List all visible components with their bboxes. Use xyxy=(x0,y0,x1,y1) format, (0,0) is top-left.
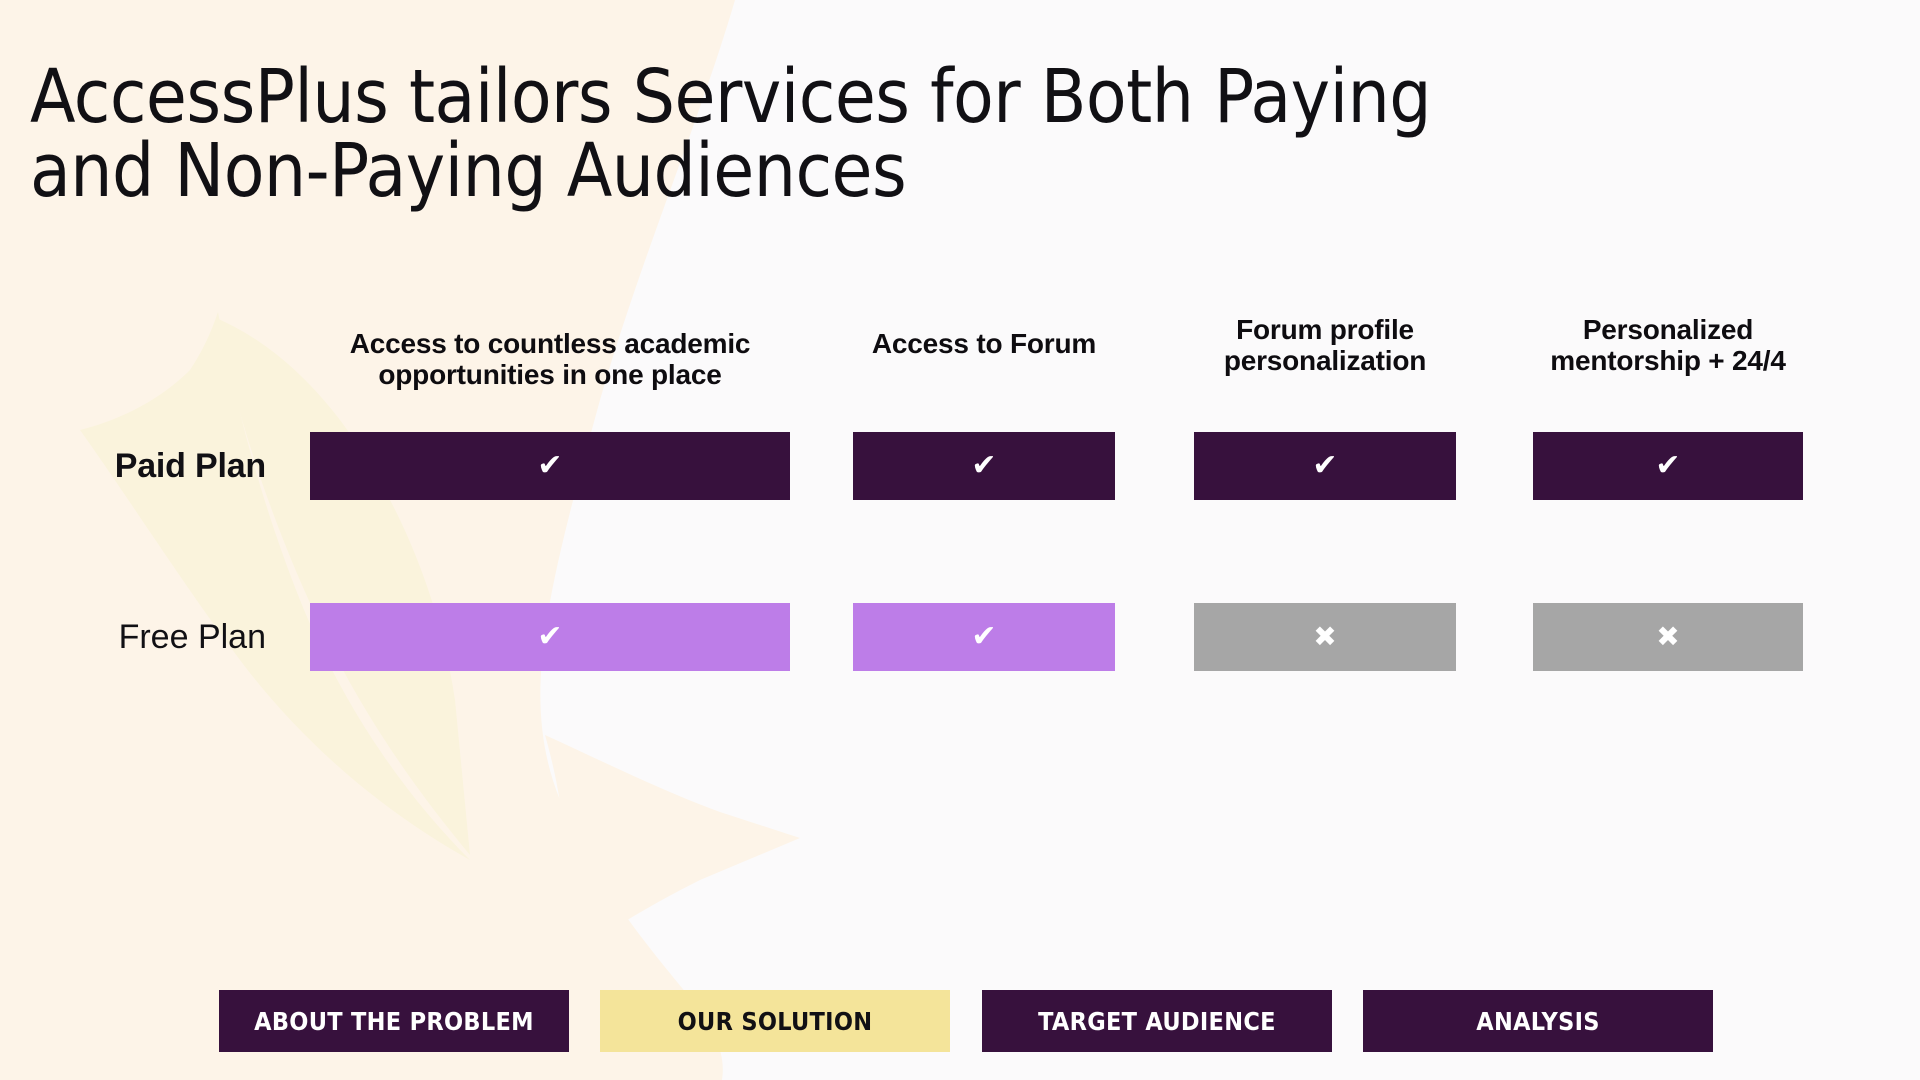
slide-root: AccessPlus tailors Services for Both Pay… xyxy=(0,0,1920,1080)
nav-button-our-solution[interactable]: OUR SOLUTION xyxy=(600,990,950,1052)
nav-button-label: ANALYSIS xyxy=(1476,1007,1600,1036)
bottom-navigation: ABOUT THE PROBLEM OUR SOLUTION TARGET AU… xyxy=(0,990,1920,1052)
nav-button-label: ABOUT THE PROBLEM xyxy=(254,1007,534,1036)
cell-paid-access-to-forum: ✔ xyxy=(853,432,1115,500)
nav-button-label: TARGET AUDIENCE xyxy=(1038,1007,1276,1036)
table-row-paid-plan: Paid Plan ✔ ✔ ✔ ✔ xyxy=(0,432,1920,500)
cross-icon: ✖ xyxy=(1656,623,1679,651)
cross-icon: ✖ xyxy=(1313,623,1336,651)
cell-paid-forum-profile-personalization: ✔ xyxy=(1194,432,1456,500)
column-header-forum-profile-personalization: Forum profile personalization xyxy=(1194,314,1456,377)
check-icon: ✔ xyxy=(537,451,562,481)
nav-button-label: OUR SOLUTION xyxy=(678,1007,873,1036)
row-label-paid-plan: Paid Plan xyxy=(0,432,288,500)
page-title: AccessPlus tailors Services for Both Pay… xyxy=(30,60,1830,208)
column-header-access-to-forum: Access to Forum xyxy=(853,328,1115,359)
check-icon: ✔ xyxy=(1655,451,1680,481)
cell-free-personalized-mentorship: ✖ xyxy=(1533,603,1803,671)
check-icon: ✔ xyxy=(537,622,562,652)
check-icon: ✔ xyxy=(971,622,996,652)
nav-button-target-audience[interactable]: TARGET AUDIENCE xyxy=(982,990,1332,1052)
nav-button-about-the-problem[interactable]: ABOUT THE PROBLEM xyxy=(219,990,569,1052)
cell-free-forum-profile-personalization: ✖ xyxy=(1194,603,1456,671)
cell-free-academic-opportunities: ✔ xyxy=(310,603,790,671)
row-label-free-plan: Free Plan xyxy=(0,603,288,671)
column-header-academic-opportunities: Access to countless academic opportuniti… xyxy=(310,328,790,391)
check-icon: ✔ xyxy=(971,451,996,481)
cell-free-access-to-forum: ✔ xyxy=(853,603,1115,671)
check-icon: ✔ xyxy=(1312,451,1337,481)
column-header-personalized-mentorship: Personalized mentorship + 24/4 xyxy=(1533,314,1803,377)
table-row-free-plan: Free Plan ✔ ✔ ✖ ✖ xyxy=(0,603,1920,671)
nav-button-analysis[interactable]: ANALYSIS xyxy=(1363,990,1713,1052)
cell-paid-academic-opportunities: ✔ xyxy=(310,432,790,500)
matrix-header-row: Access to countless academic opportuniti… xyxy=(0,300,1920,410)
cell-paid-personalized-mentorship: ✔ xyxy=(1533,432,1803,500)
